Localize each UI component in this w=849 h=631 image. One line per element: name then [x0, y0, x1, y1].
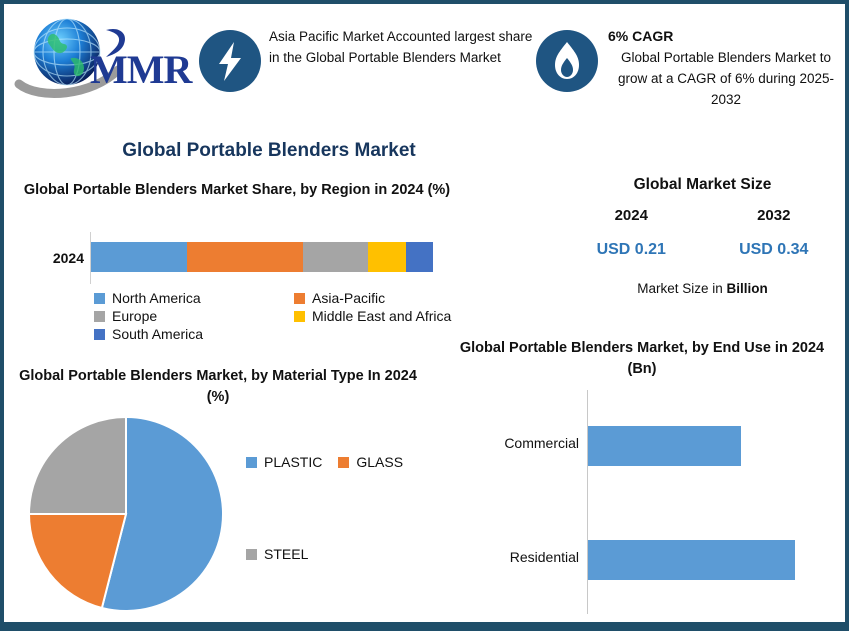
cagr-body: Global Portable Blenders Market to grow …: [618, 50, 834, 107]
region-segment-4: [406, 242, 433, 272]
material-legend: PLASTICGLASS STEEL: [246, 454, 436, 562]
region-chart-title: Global Portable Blenders Market Share, b…: [22, 180, 452, 201]
material-legend-item: STEEL: [246, 546, 436, 562]
flame-icon: [536, 30, 598, 92]
material-legend-label: PLASTIC: [264, 454, 322, 470]
material-legend-item: PLASTIC: [246, 454, 322, 470]
market-size-value-2024: USD 0.21: [560, 241, 703, 259]
end-use-bar-commercial: [588, 426, 741, 466]
region-legend: North AmericaAsia-PacificEuropeMiddle Ea…: [94, 290, 474, 342]
legend-swatch-icon: [94, 329, 105, 340]
region-category-label: 2024: [22, 250, 84, 266]
infographic-page: MMR Asia Pacific Market Accounted larges…: [0, 0, 849, 631]
region-segment-1: [187, 242, 303, 272]
region-legend-label: Europe: [112, 308, 157, 324]
legend-swatch-icon: [338, 457, 349, 468]
region-legend-item: North America: [94, 290, 294, 306]
legend-swatch-icon: [294, 311, 305, 322]
end-use-category-label: Residential: [448, 549, 579, 565]
market-size-year-2032: 2032: [703, 207, 846, 224]
pie-slice-steel: [29, 417, 126, 514]
market-size-title: Global Market Size: [560, 176, 845, 194]
market-size-years-row: 2024 USD 0.21 2032 USD 0.34: [560, 207, 845, 259]
region-legend-label: Middle East and Africa: [312, 308, 451, 324]
page-title: Global Portable Blenders Market: [4, 140, 534, 162]
material-pie: [26, 414, 226, 614]
market-size-unit-note: Market Size in Billion: [560, 281, 845, 296]
region-legend-item: Europe: [94, 308, 294, 324]
region-legend-label: North America: [112, 290, 201, 306]
region-legend-item: Middle East and Africa: [294, 308, 474, 324]
market-size-col-2024: 2024 USD 0.21: [560, 207, 703, 259]
region-segment-0: [91, 242, 187, 272]
end-use-row: Residential: [448, 540, 843, 580]
material-chart-title: Global Portable Blenders Market, by Mate…: [18, 366, 418, 408]
end-use-chart-title: Global Portable Blenders Market, by End …: [452, 338, 832, 380]
market-size-col-2032: 2032 USD 0.34: [703, 207, 846, 259]
market-size-panel: Global Market Size 2024 USD 0.21 2032 US…: [560, 174, 845, 319]
market-size-unit-prefix: Market Size in: [637, 281, 726, 296]
material-type-chart: Global Portable Blenders Market, by Mate…: [18, 366, 438, 628]
end-use-plot-area: CommercialResidential: [448, 390, 843, 618]
end-use-bar-residential: [588, 540, 795, 580]
region-legend-item: South America: [94, 326, 294, 342]
legend-swatch-icon: [94, 311, 105, 322]
legend-swatch-icon: [246, 549, 257, 560]
region-segment-2: [303, 242, 368, 272]
region-legend-label: South America: [112, 326, 203, 342]
material-legend-row-1: PLASTICGLASS: [246, 454, 436, 470]
end-use-axis-line: [587, 390, 588, 614]
end-use-row: Commercial: [448, 426, 843, 466]
region-stacked-bar: [91, 242, 433, 272]
cagr-heading: 6% CAGR: [606, 26, 846, 47]
header: MMR Asia Pacific Market Accounted larges…: [4, 4, 845, 122]
material-legend-row-2: STEEL: [246, 546, 436, 562]
market-size-unit-value: Billion: [727, 281, 768, 296]
end-use-category-label: Commercial: [448, 435, 579, 451]
logo-wordmark: MMR: [90, 46, 191, 93]
legend-swatch-icon: [246, 457, 257, 468]
region-legend-label: Asia-Pacific: [312, 290, 385, 306]
market-size-year-2024: 2024: [560, 207, 703, 224]
end-use-chart: Global Portable Blenders Market, by End …: [448, 338, 843, 628]
mmr-logo: MMR: [14, 12, 189, 104]
region-plot-area: 2024: [14, 236, 474, 284]
legend-swatch-icon: [94, 293, 105, 304]
lightning-bolt-icon: [199, 30, 261, 92]
region-share-chart: Global Portable Blenders Market Share, b…: [14, 180, 474, 350]
region-legend-item: Asia-Pacific: [294, 290, 474, 306]
region-segment-3: [368, 242, 406, 272]
material-legend-item: GLASS: [338, 454, 403, 470]
market-size-value-2032: USD 0.34: [703, 241, 846, 259]
material-legend-label: GLASS: [356, 454, 403, 470]
header-highlight-2-text: 6% CAGR Global Portable Blenders Market …: [606, 26, 846, 110]
legend-swatch-icon: [294, 293, 305, 304]
material-legend-label: STEEL: [264, 546, 308, 562]
header-highlight-1-text: Asia Pacific Market Accounted largest sh…: [269, 26, 539, 68]
